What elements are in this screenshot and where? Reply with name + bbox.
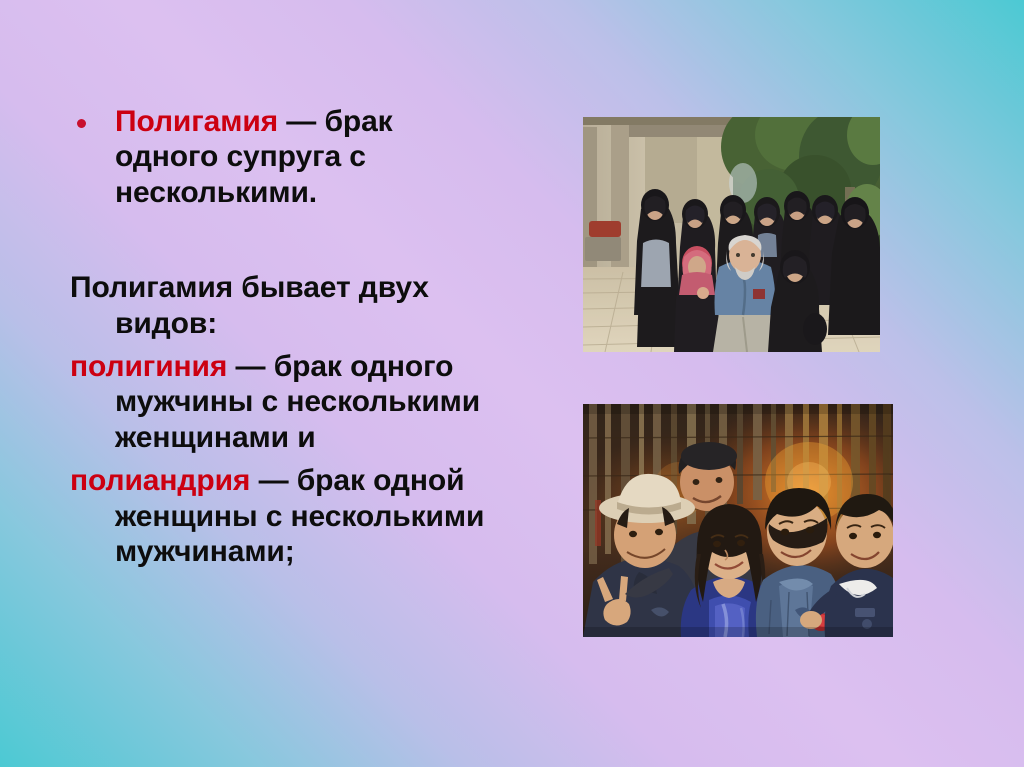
definition-paragraph-polyandry: полиандрия — брак одной женщины с нескол… xyxy=(70,463,500,569)
bullet-dot-icon xyxy=(77,119,86,128)
term-polygamy: Полигамия xyxy=(115,105,278,138)
term-polyandry: полиандрия xyxy=(70,464,250,497)
group-photo-women-chador xyxy=(583,117,880,352)
group-photo-woman-with-men xyxy=(583,404,893,637)
paragraph-gap-1 xyxy=(70,341,500,349)
em-dash-separator: — xyxy=(278,105,324,138)
paragraph-gap-2 xyxy=(70,455,500,463)
em-dash-separator: — xyxy=(250,464,296,497)
paragraph-spacer xyxy=(70,210,500,270)
em-dash-separator: — xyxy=(227,350,273,383)
intro-paragraph: Полигамия бывает двух видов: xyxy=(70,270,500,341)
bullet-paragraph-polygamy: Полигамия — брак одного супруга с нескол… xyxy=(70,104,500,210)
text-column: Полигамия — брак одного супруга с нескол… xyxy=(70,104,500,569)
term-polygyny: полигиния xyxy=(70,350,227,383)
intro-text: Полигамия бывает двух видов: xyxy=(70,271,429,339)
definition-paragraph-polygyny: полигиния — брак одного мужчины с нескол… xyxy=(70,349,500,455)
slide-canvas: Полигамия — брак одного супруга с нескол… xyxy=(0,0,1024,767)
